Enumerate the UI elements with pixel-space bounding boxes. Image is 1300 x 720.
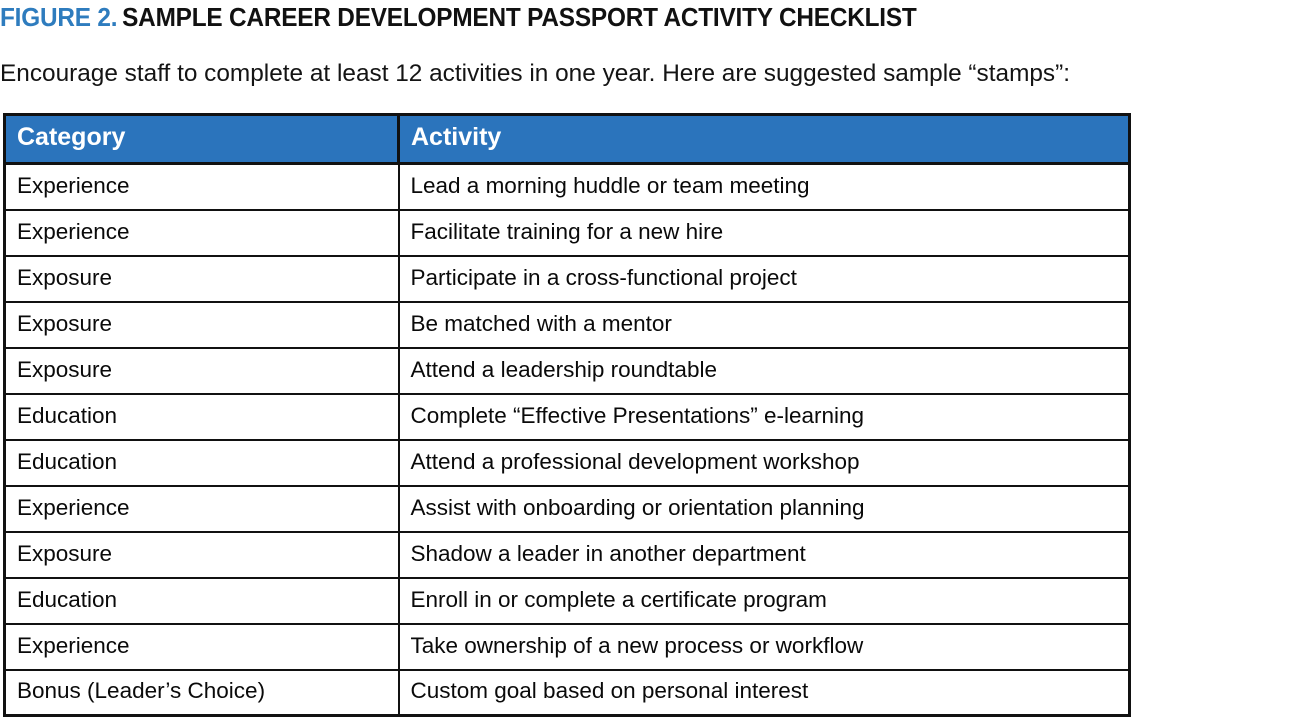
- table-row: Experience Facilitate training for a new…: [5, 210, 1130, 256]
- cell-activity: Assist with onboarding or orientation pl…: [399, 486, 1130, 532]
- figure-subtitle: Encourage staff to complete at least 12 …: [0, 58, 1289, 92]
- cell-category: Exposure: [5, 532, 399, 578]
- cell-activity: Take ownership of a new process or workf…: [399, 624, 1130, 670]
- table-row: Exposure Shadow a leader in another depa…: [5, 532, 1130, 578]
- cell-activity: Enroll in or complete a certificate prog…: [399, 578, 1130, 624]
- table-header: Category Activity: [5, 115, 1130, 164]
- cell-activity: Attend a professional development worksh…: [399, 440, 1130, 486]
- cell-activity: Lead a morning huddle or team meeting: [399, 164, 1130, 210]
- column-header-activity: Activity: [399, 115, 1130, 164]
- table-row: Education Attend a professional developm…: [5, 440, 1130, 486]
- activity-checklist-table: Category Activity Experience Lead a morn…: [3, 113, 1131, 717]
- figure-number-label: FIGURE 2.: [0, 4, 117, 32]
- table-body: Experience Lead a morning huddle or team…: [5, 164, 1130, 716]
- table-row: Education Complete “Effective Presentati…: [5, 394, 1130, 440]
- cell-activity: Custom goal based on personal interest: [399, 670, 1130, 716]
- cell-activity: Be matched with a mentor: [399, 302, 1130, 348]
- table-row: Experience Lead a morning huddle or team…: [5, 164, 1130, 210]
- table-row: Education Enroll in or complete a certif…: [5, 578, 1130, 624]
- table-row: Bonus (Leader’s Choice) Custom goal base…: [5, 670, 1130, 716]
- table-row: Exposure Attend a leadership roundtable: [5, 348, 1130, 394]
- cell-category: Bonus (Leader’s Choice): [5, 670, 399, 716]
- cell-category: Education: [5, 440, 399, 486]
- figure-headline: SAMPLE CAREER DEVELOPMENT PASSPORT ACTIV…: [122, 4, 916, 32]
- table-row: Experience Take ownership of a new proce…: [5, 624, 1130, 670]
- cell-category: Experience: [5, 486, 399, 532]
- table-row: Exposure Participate in a cross-function…: [5, 256, 1130, 302]
- figure-page: FIGURE 2.SAMPLE CAREER DEVELOPMENT PASSP…: [0, 0, 1300, 720]
- table-row: Experience Assist with onboarding or ori…: [5, 486, 1130, 532]
- column-header-category: Category: [5, 115, 399, 164]
- table-header-row: Category Activity: [5, 115, 1130, 164]
- cell-category: Experience: [5, 164, 399, 210]
- cell-activity: Attend a leadership roundtable: [399, 348, 1130, 394]
- table-row: Exposure Be matched with a mentor: [5, 302, 1130, 348]
- cell-category: Education: [5, 394, 399, 440]
- cell-category: Experience: [5, 210, 399, 256]
- cell-activity: Participate in a cross-functional projec…: [399, 256, 1130, 302]
- cell-category: Experience: [5, 624, 399, 670]
- cell-category: Exposure: [5, 348, 399, 394]
- cell-activity: Facilitate training for a new hire: [399, 210, 1130, 256]
- cell-category: Education: [5, 578, 399, 624]
- cell-activity: Shadow a leader in another department: [399, 532, 1130, 578]
- figure-title: FIGURE 2.SAMPLE CAREER DEVELOPMENT PASSP…: [0, 3, 1232, 35]
- cell-category: Exposure: [5, 302, 399, 348]
- cell-activity: Complete “Effective Presentations” e-lea…: [399, 394, 1130, 440]
- cell-category: Exposure: [5, 256, 399, 302]
